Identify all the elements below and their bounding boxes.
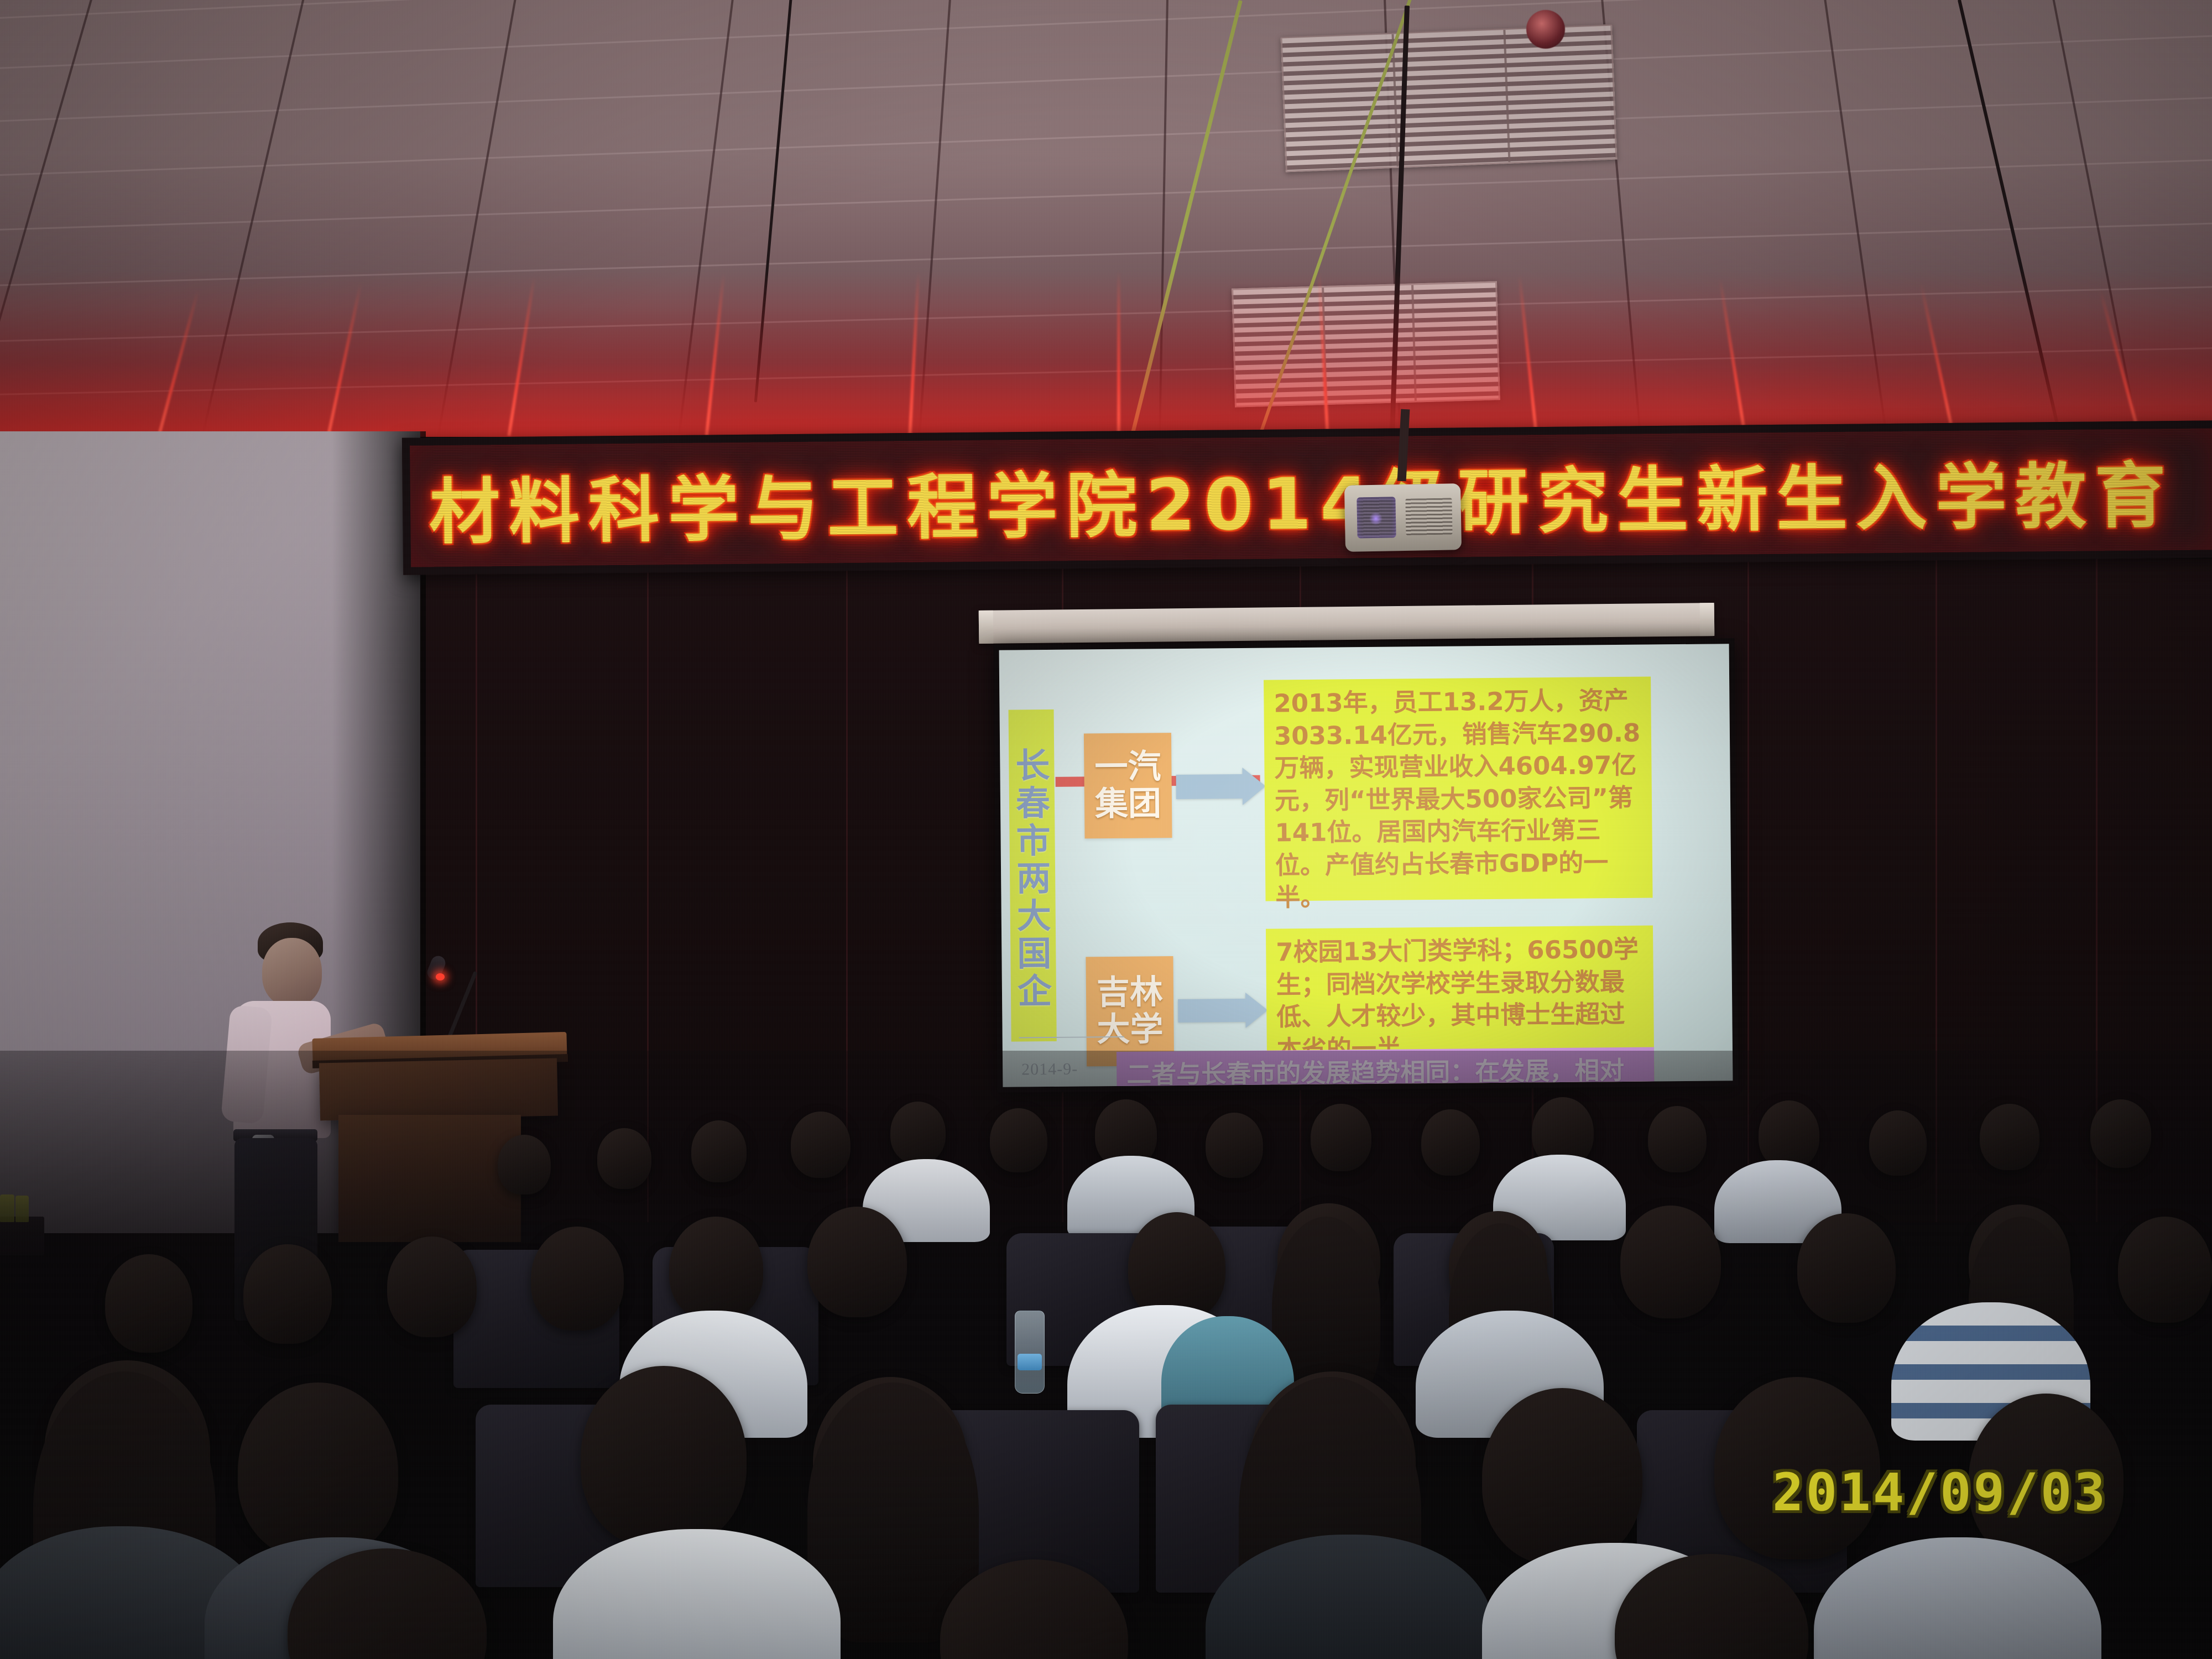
audience-head bbox=[1980, 1104, 2039, 1170]
audience-head bbox=[581, 1366, 747, 1548]
projector-vent bbox=[1405, 498, 1452, 535]
audience-head bbox=[791, 1112, 851, 1178]
audience-seating-area bbox=[0, 1051, 2212, 1659]
audience-head bbox=[1869, 1110, 1927, 1176]
projector-lens bbox=[1357, 497, 1396, 538]
audience-head bbox=[1311, 1104, 1371, 1171]
water-bottle-cap bbox=[1018, 1354, 1042, 1370]
audience-head bbox=[1759, 1100, 1819, 1169]
callout-box-faw: 2013年，员工13.2万人，资产3033.14亿元，销售汽车290.8万辆，实… bbox=[1264, 676, 1652, 901]
audience-head bbox=[1620, 1206, 1721, 1318]
org-box-faw-group: 一汽 集团 bbox=[1084, 733, 1172, 838]
slide-vertical-label: 长春市两大国企 bbox=[1009, 709, 1057, 1042]
water-bottle bbox=[1015, 1311, 1045, 1394]
audience-head bbox=[890, 1102, 946, 1164]
audience-head bbox=[531, 1227, 624, 1331]
ceiling-vent bbox=[1281, 24, 1618, 173]
audience-head bbox=[807, 1207, 907, 1317]
audience-head bbox=[691, 1120, 747, 1182]
org-box-jilin-university: 吉林 大学 bbox=[1086, 956, 1174, 1066]
audience-head bbox=[1482, 1388, 1642, 1565]
audience-head bbox=[1648, 1106, 1707, 1172]
audience-head bbox=[1797, 1213, 1896, 1323]
arrow-right-2 bbox=[1178, 999, 1245, 1022]
org-box-jlu-line1: 吉林 bbox=[1097, 974, 1164, 1011]
lecture-hall-photo: 材料科学与工程学院2014级研究生新生入学教育 长春市两大国企 一汽 集团 bbox=[0, 0, 2212, 1659]
org-box-faw-line2: 集团 bbox=[1095, 785, 1162, 823]
projection-screen-frame: 长春市两大国企 一汽 集团 吉林 大学 bbox=[993, 638, 1738, 1093]
projector bbox=[1344, 483, 1462, 552]
microphone-indicator-led bbox=[436, 973, 445, 980]
audience-head bbox=[990, 1108, 1047, 1172]
audience-head bbox=[597, 1128, 651, 1189]
audience-head bbox=[387, 1237, 477, 1337]
audience-head bbox=[243, 1244, 332, 1344]
audience-head bbox=[2118, 1217, 2212, 1323]
presentation-slide: 长春市两大国企 一汽 集团 吉林 大学 bbox=[999, 644, 1733, 1087]
camera-date-stamp: 2014/09/03 bbox=[1772, 1463, 2107, 1523]
audience-head bbox=[105, 1254, 192, 1353]
led-banner-text: 材料科学与工程学院2014级研究生新生入学教育 bbox=[429, 439, 2175, 557]
led-scrolling-banner: 材料科学与工程学院2014级研究生新生入学教育 bbox=[402, 420, 2212, 575]
audience-head bbox=[238, 1383, 398, 1559]
audience-head bbox=[1206, 1113, 1263, 1178]
org-box-jlu-line2: 大学 bbox=[1097, 1011, 1164, 1048]
ceiling-fixture bbox=[1526, 10, 1565, 49]
ceiling-vent bbox=[1232, 281, 1500, 407]
speaker-head bbox=[262, 938, 322, 1006]
audience-head bbox=[2090, 1099, 2151, 1168]
ceiling bbox=[0, 0, 2212, 437]
projection-screen: 长春市两大国企 一汽 集团 吉林 大学 bbox=[999, 644, 1733, 1087]
audience-head bbox=[1421, 1109, 1480, 1176]
org-box-faw-line1: 一汽 bbox=[1094, 748, 1161, 786]
audience-head bbox=[498, 1135, 551, 1194]
audience-head bbox=[669, 1217, 763, 1322]
arrow-right-1 bbox=[1176, 774, 1243, 799]
